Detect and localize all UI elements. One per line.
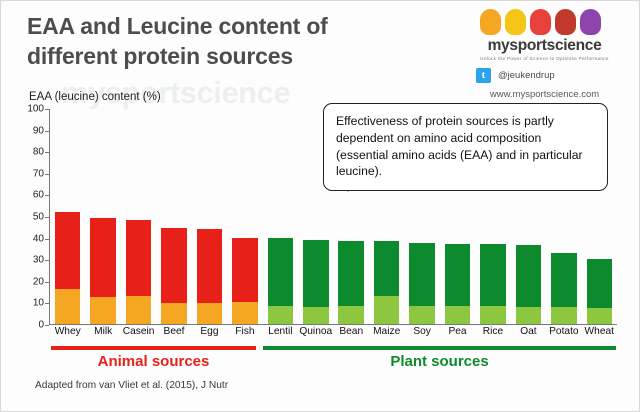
bar-segment-other-eaa (480, 244, 506, 306)
twitter-icon[interactable]: t (476, 68, 491, 83)
source-footnote: Adapted from van Vliet et al. (2015), J … (35, 380, 228, 391)
x-tick-label: Egg (192, 326, 227, 337)
y-tick-label: 10 (33, 298, 44, 309)
group-label-animal: Animal sources (51, 353, 256, 370)
bar-segment-other-eaa (197, 229, 223, 304)
y-tick-label: 80 (33, 147, 44, 158)
bar-segment-leucine (409, 306, 435, 324)
bar-segment-leucine (268, 306, 294, 324)
y-tick-mark (45, 109, 49, 110)
x-tick-label: Lentil (263, 326, 298, 337)
bar-segment-other-eaa (90, 218, 116, 297)
bar-slot (85, 109, 120, 324)
x-tick-label: Beef (156, 326, 191, 337)
twitter-row[interactable]: t @jeukendrup (462, 68, 627, 83)
slide: EAA and Leucine content of different pro… (0, 0, 640, 412)
y-axis-title: EAA (leucine) content (%) (29, 91, 161, 103)
group-rule-plant (263, 346, 616, 350)
bar-wheat[interactable] (587, 259, 613, 324)
x-tick-label: Pea (440, 326, 475, 337)
bar-segment-other-eaa (338, 241, 364, 306)
bar-segment-other-eaa (55, 212, 81, 290)
bar-slot (192, 109, 227, 324)
bar-segment-leucine (126, 296, 152, 324)
logo-dots-icon (480, 9, 627, 35)
bar-segment-other-eaa (587, 259, 613, 308)
bar-segment-other-eaa (551, 253, 577, 307)
bar-segment-other-eaa (374, 241, 400, 296)
y-tick-mark (45, 174, 49, 175)
y-tick-mark (45, 239, 49, 240)
bar-segment-leucine (374, 296, 400, 324)
bar-segment-other-eaa (445, 244, 471, 306)
bar-segment-leucine (55, 289, 81, 324)
bar-segment-leucine (551, 307, 577, 324)
y-tick-mark (45, 217, 49, 218)
bar-segment-leucine (161, 303, 187, 324)
x-tick-label: Maize (369, 326, 404, 337)
page-title: EAA and Leucine content of different pro… (27, 11, 407, 72)
y-tick-label: 70 (33, 168, 44, 179)
bar-segment-other-eaa (232, 238, 258, 303)
x-axis-labels: WheyMilkCaseinBeefEggFishLentilQuinoaBea… (50, 326, 617, 337)
bar-segment-other-eaa (161, 228, 187, 304)
y-tick-label: 90 (33, 125, 44, 136)
bar-slot (263, 109, 298, 324)
bar-segment-leucine (587, 308, 613, 324)
twitter-handle[interactable]: @jeukendrup (498, 70, 555, 81)
group-label-plant: Plant sources (263, 353, 616, 370)
x-tick-label: Bean (334, 326, 369, 337)
x-tick-label: Oat (511, 326, 546, 337)
bar-slot (50, 109, 85, 324)
bar-segment-leucine (90, 297, 116, 324)
bar-segment-other-eaa (303, 240, 329, 307)
x-tick-label: Quinoa (298, 326, 333, 337)
bar-segment-other-eaa (409, 243, 435, 306)
y-tick-mark (45, 282, 49, 283)
x-tick-label: Casein (121, 326, 156, 337)
bar-segment-leucine (303, 307, 329, 324)
bar-potato[interactable] (551, 253, 577, 324)
y-tick-mark (45, 152, 49, 153)
bar-casein[interactable] (126, 220, 152, 324)
bar-segment-leucine (480, 306, 506, 324)
bar-segment-leucine (516, 307, 542, 324)
bar-bean[interactable] (338, 241, 364, 324)
group-rule-animal (51, 346, 256, 350)
bar-slot (121, 109, 156, 324)
x-tick-label: Whey (50, 326, 85, 337)
bar-soy[interactable] (409, 243, 435, 324)
brand-logo-block: mysportscience Unlock the Power of Scien… (462, 9, 627, 100)
brand-tagline: Unlock the Power of Science to Optimise … (462, 56, 627, 61)
bar-segment-leucine (197, 303, 223, 324)
bar-beef[interactable] (161, 228, 187, 324)
x-tick-label: Wheat (582, 326, 617, 337)
bar-pea[interactable] (445, 244, 471, 324)
bar-oat[interactable] (516, 245, 542, 324)
x-tick-label: Fish (227, 326, 262, 337)
bar-quinoa[interactable] (303, 240, 329, 324)
y-tick-label: 50 (33, 212, 44, 223)
bar-fish[interactable] (232, 238, 258, 324)
bar-segment-leucine (445, 306, 471, 324)
brand-name: mysportscience (462, 37, 627, 55)
y-tick-mark (45, 325, 49, 326)
x-tick-label: Potato (546, 326, 581, 337)
bar-maize[interactable] (374, 241, 400, 324)
bar-milk[interactable] (90, 218, 116, 324)
x-tick-label: Soy (404, 326, 439, 337)
y-tick-label: 0 (38, 320, 44, 331)
y-tick-label: 40 (33, 233, 44, 244)
bar-segment-other-eaa (516, 245, 542, 307)
callout-box: Effectiveness of protein sources is part… (323, 103, 608, 191)
bar-segment-leucine (232, 302, 258, 324)
y-tick-mark (45, 260, 49, 261)
bar-slot (227, 109, 262, 324)
bar-segment-other-eaa (268, 238, 294, 306)
bar-segment-leucine (338, 306, 364, 324)
bar-egg[interactable] (197, 229, 223, 324)
x-tick-label: Rice (475, 326, 510, 337)
bar-lentil[interactable] (268, 238, 294, 324)
bar-rice[interactable] (480, 244, 506, 324)
y-tick-label: 100 (27, 104, 44, 115)
bar-whey[interactable] (55, 212, 81, 324)
y-tick-label: 60 (33, 190, 44, 201)
x-axis-line (49, 324, 617, 325)
y-tick-label: 30 (33, 255, 44, 266)
bar-slot (156, 109, 191, 324)
website-url[interactable]: www.mysportscience.com (462, 89, 627, 100)
y-tick-label: 20 (33, 276, 44, 287)
bar-segment-other-eaa (126, 220, 152, 296)
y-tick-mark (45, 131, 49, 132)
x-tick-label: Milk (85, 326, 120, 337)
y-tick-mark (45, 195, 49, 196)
y-tick-mark (45, 303, 49, 304)
